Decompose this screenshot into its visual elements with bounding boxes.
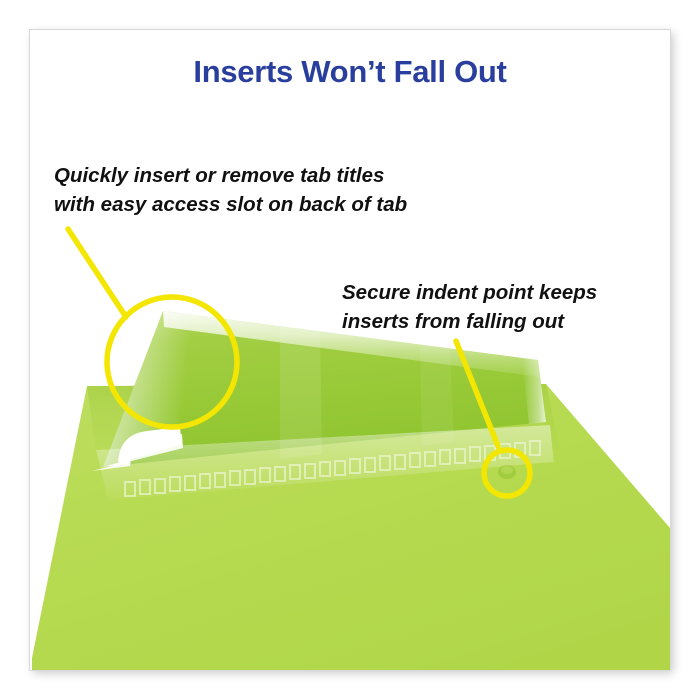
annotation-markers (30, 30, 670, 670)
callout-marker-secure-indent (456, 341, 530, 496)
divider-body (32, 384, 670, 670)
product-photograph (30, 30, 670, 670)
screenshot-root: Inserts Won’t Fall Out Quickly insert or… (0, 0, 700, 700)
perforated-binding-strip (96, 425, 554, 500)
highlight-circle-secure-indent (484, 450, 530, 496)
callout-marker-access-slot (68, 229, 237, 427)
highlight-circle-access-slot (107, 297, 237, 427)
leader-line-secure-indent (456, 341, 498, 446)
leader-line-access-slot (68, 229, 126, 317)
page-title: Inserts Won’t Fall Out (30, 55, 670, 89)
callout-text-secure-indent: Secure indent point keeps inserts from f… (342, 278, 597, 336)
callout-line-1: Secure indent point keeps (342, 278, 597, 307)
callout-line-2: with easy access slot on back of tab (54, 190, 407, 219)
callout-line-2: inserts from falling out (342, 307, 597, 336)
callout-text-access-slot: Quickly insert or remove tab titles with… (54, 161, 407, 219)
product-image-card: Inserts Won’t Fall Out Quickly insert or… (30, 30, 670, 670)
secure-indent-point (498, 465, 516, 479)
callout-line-1: Quickly insert or remove tab titles (54, 161, 407, 190)
product-artwork (30, 30, 670, 670)
